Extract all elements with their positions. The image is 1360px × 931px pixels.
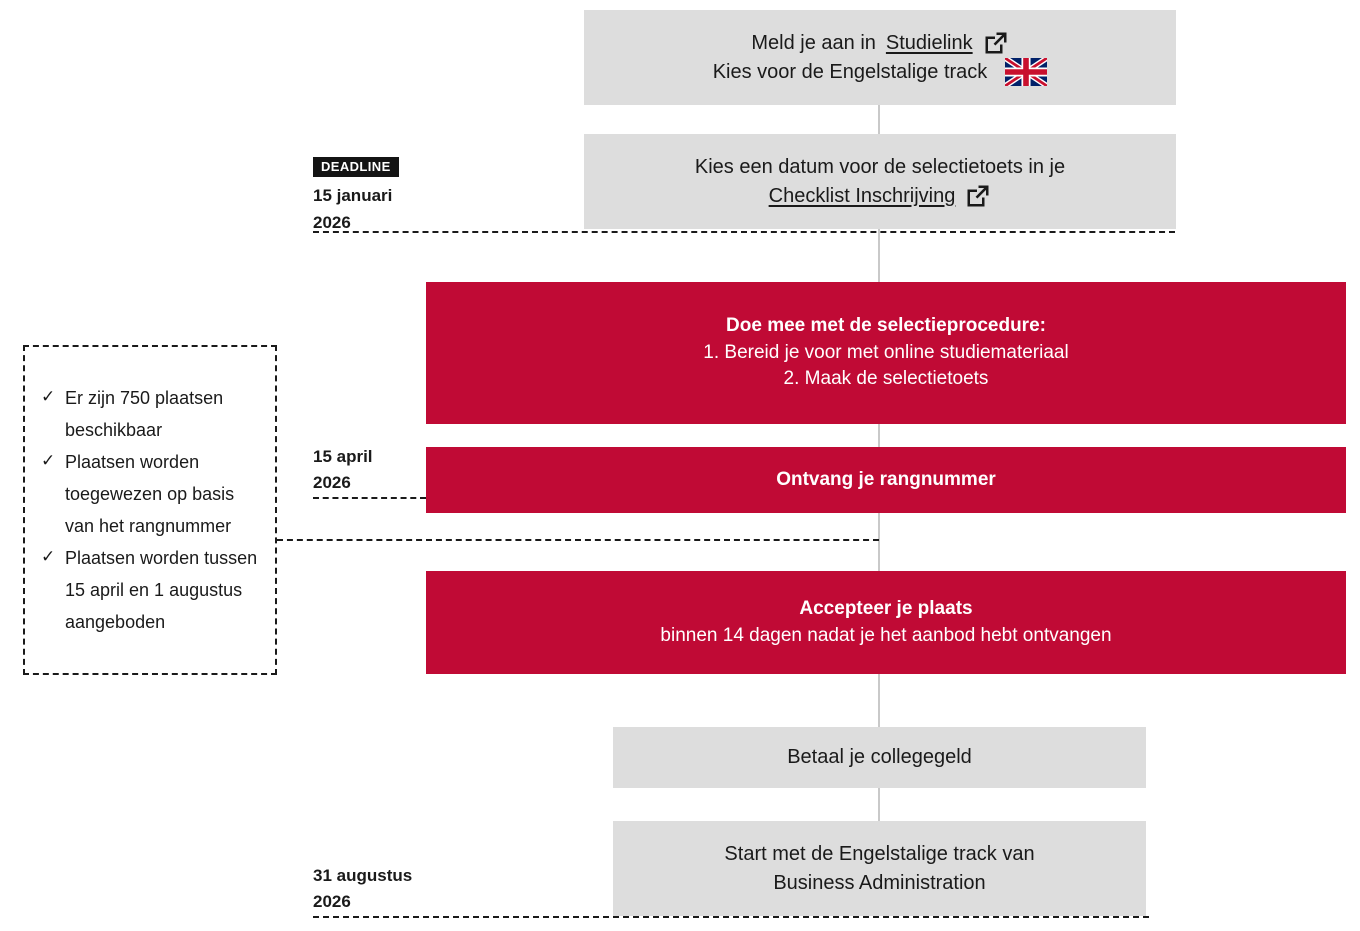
accept-place-heading: Accepteer je plaats <box>799 596 972 623</box>
selection-procedure-heading: Doe mee met de selectieprocedure: <box>726 313 1046 340</box>
connector-spine-3 <box>878 424 880 447</box>
deadline-january-day: 15 januari <box>313 183 399 209</box>
signup-text: Meld je aan in <box>751 29 876 57</box>
date-april-year: 2026 <box>313 470 373 496</box>
signup-line-track: Kies voor de Engelstalige track <box>713 58 1048 86</box>
connector-spine-6 <box>878 788 880 821</box>
studielink-link[interactable]: Studielink <box>886 29 973 57</box>
step-box-accept-place[interactable]: Accepteer je plaats binnen 14 dagen nada… <box>426 571 1346 674</box>
places-info-list: ✓ Er zijn 750 plaatsen beschikbaar ✓ Pla… <box>39 382 261 638</box>
rank-number-label: Ontvang je rangnummer <box>776 467 996 494</box>
checklist-inschrijving-link[interactable]: Checklist Inschrijving <box>769 182 956 210</box>
places-info-callout: ✓ Er zijn 750 plaatsen beschikbaar ✓ Pla… <box>23 345 277 675</box>
selection-procedure-item-2: 2. Maak de selectietoets <box>784 366 989 393</box>
date-marker-april: 15 april 2026 <box>313 444 373 497</box>
deadline-badge: DEADLINE <box>313 157 399 177</box>
date-august-day: 31 augustus <box>313 863 412 889</box>
step-box-start-programme[interactable]: Start met de Engelstalige track van Busi… <box>613 821 1146 916</box>
external-link-icon[interactable] <box>965 183 991 209</box>
step-box-signup[interactable]: Meld je aan in Studielink Kies voor de E… <box>584 10 1176 105</box>
deadline-january-year: 2026 <box>313 210 399 236</box>
start-programme-line-2: Business Administration <box>773 869 985 897</box>
milestone-rule-january <box>313 231 1175 233</box>
list-item-label: Plaatsen worden toegewezen op basis van … <box>65 452 234 536</box>
list-item-label: Plaatsen worden tussen 15 april en 1 aug… <box>65 548 257 632</box>
check-icon: ✓ <box>41 446 55 476</box>
choose-test-date-line-1: Kies een datum voor de selectietoets in … <box>695 153 1065 181</box>
step-box-pay-tuition[interactable]: Betaal je collegegeld <box>613 727 1146 788</box>
connector-spine-2 <box>878 229 880 282</box>
pay-tuition-label: Betaal je collegegeld <box>787 743 972 771</box>
connector-spine-4 <box>878 513 880 571</box>
step-box-selection-procedure[interactable]: Doe mee met de selectieprocedure: 1. Ber… <box>426 282 1346 424</box>
choose-test-date-line-2: Checklist Inschrijving <box>769 182 992 210</box>
accept-place-subtext: binnen 14 dagen nadat je het aanbod hebt… <box>660 623 1111 650</box>
check-icon: ✓ <box>41 542 55 572</box>
connector-spine-5 <box>878 674 880 727</box>
uk-flag-icon <box>1005 58 1047 86</box>
connector-spine-1 <box>878 105 880 134</box>
signup-track-text: Kies voor de Engelstalige track <box>713 58 988 86</box>
date-marker-january: DEADLINE 15 januari 2026 <box>313 153 399 236</box>
date-marker-august: 31 augustus 2026 <box>313 863 412 916</box>
milestone-rule-april <box>313 497 426 499</box>
signup-line-studielink: Meld je aan in Studielink <box>751 29 1008 57</box>
step-box-rank-number[interactable]: Ontvang je rangnummer <box>426 447 1346 513</box>
step-box-choose-test-date[interactable]: Kies een datum voor de selectietoets in … <box>584 134 1176 229</box>
list-item: ✓ Plaatsen worden toegewezen op basis va… <box>39 446 261 542</box>
choose-test-date-text: Kies een datum voor de selectietoets in … <box>695 153 1065 181</box>
milestone-rule-august <box>313 916 1149 918</box>
list-item: ✓ Plaatsen worden tussen 15 april en 1 a… <box>39 542 261 638</box>
check-icon: ✓ <box>41 382 55 412</box>
selection-procedure-item-1: 1. Bereid je voor met online studiemater… <box>703 340 1068 367</box>
date-august-year: 2026 <box>313 889 412 915</box>
external-link-icon[interactable] <box>983 30 1009 56</box>
list-item-label: Er zijn 750 plaatsen beschikbaar <box>65 388 223 440</box>
milestone-rule-callout <box>277 539 879 541</box>
admission-timeline-infographic: Meld je aan in Studielink Kies voor de E… <box>0 0 1360 931</box>
start-programme-line-1: Start met de Engelstalige track van <box>724 840 1034 868</box>
date-april-day: 15 april <box>313 444 373 470</box>
list-item: ✓ Er zijn 750 plaatsen beschikbaar <box>39 382 261 446</box>
